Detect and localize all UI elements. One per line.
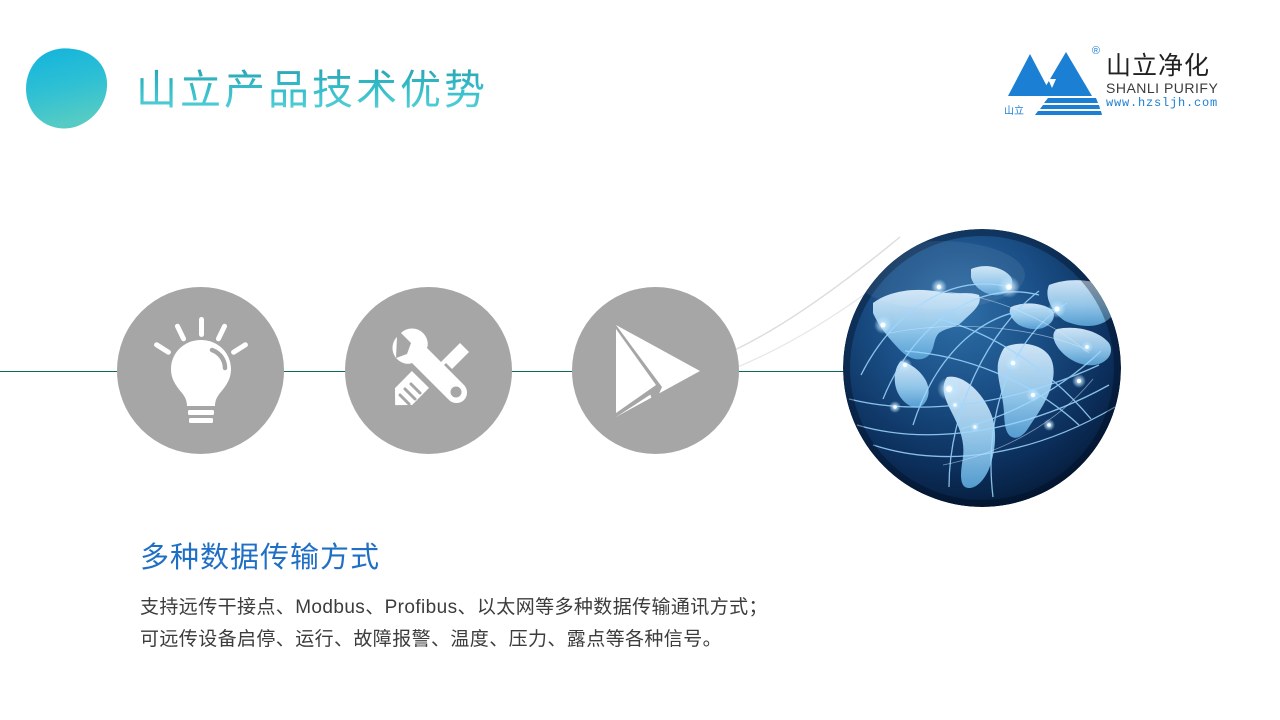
page-title: 山立产品技术优势 [136, 63, 488, 117]
feature-circle-send[interactable] [572, 287, 739, 454]
caption-body: 支持远传干接点、Modbus、Profibus、以太网等多种数据传输通讯方式； … [140, 592, 768, 656]
logo-website-url: www.hzsljh.com [1106, 96, 1218, 111]
brand-logo: ® 山立 山立净化 SHANLI PURIFY www.hzsljh.com [1004, 46, 1226, 124]
twin-mountain-logo-mark-icon: ® 山立 [1004, 46, 1102, 118]
logo-badge-label: 山立 [1004, 106, 1024, 117]
caption-body-line-1: 支持远传干接点、Modbus、Profibus、以太网等多种数据传输通讯方式； [140, 592, 768, 624]
network-globe-image [843, 229, 1121, 507]
registered-trademark-icon: ® [1092, 46, 1100, 57]
feature-circle-tools[interactable] [345, 287, 512, 454]
feature-circle-lightbulb[interactable] [117, 287, 284, 454]
logo-text-block: 山立净化 SHANLI PURIFY www.hzsljh.com [1106, 46, 1218, 111]
wrench-screwdriver-icon [375, 317, 483, 425]
caption-heading: 多种数据传输方式 [140, 539, 380, 577]
logo-company-name-cn: 山立净化 [1106, 52, 1210, 80]
caption-body-line-2: 可远传设备启停、运行、故障报警、温度、压力、露点等各种信号。 [140, 624, 768, 656]
lightbulb-icon [149, 315, 253, 427]
paper-plane-icon [604, 321, 708, 421]
header-blob-decoration [22, 47, 110, 129]
logo-company-name-en: SHANLI PURIFY [1106, 80, 1218, 96]
